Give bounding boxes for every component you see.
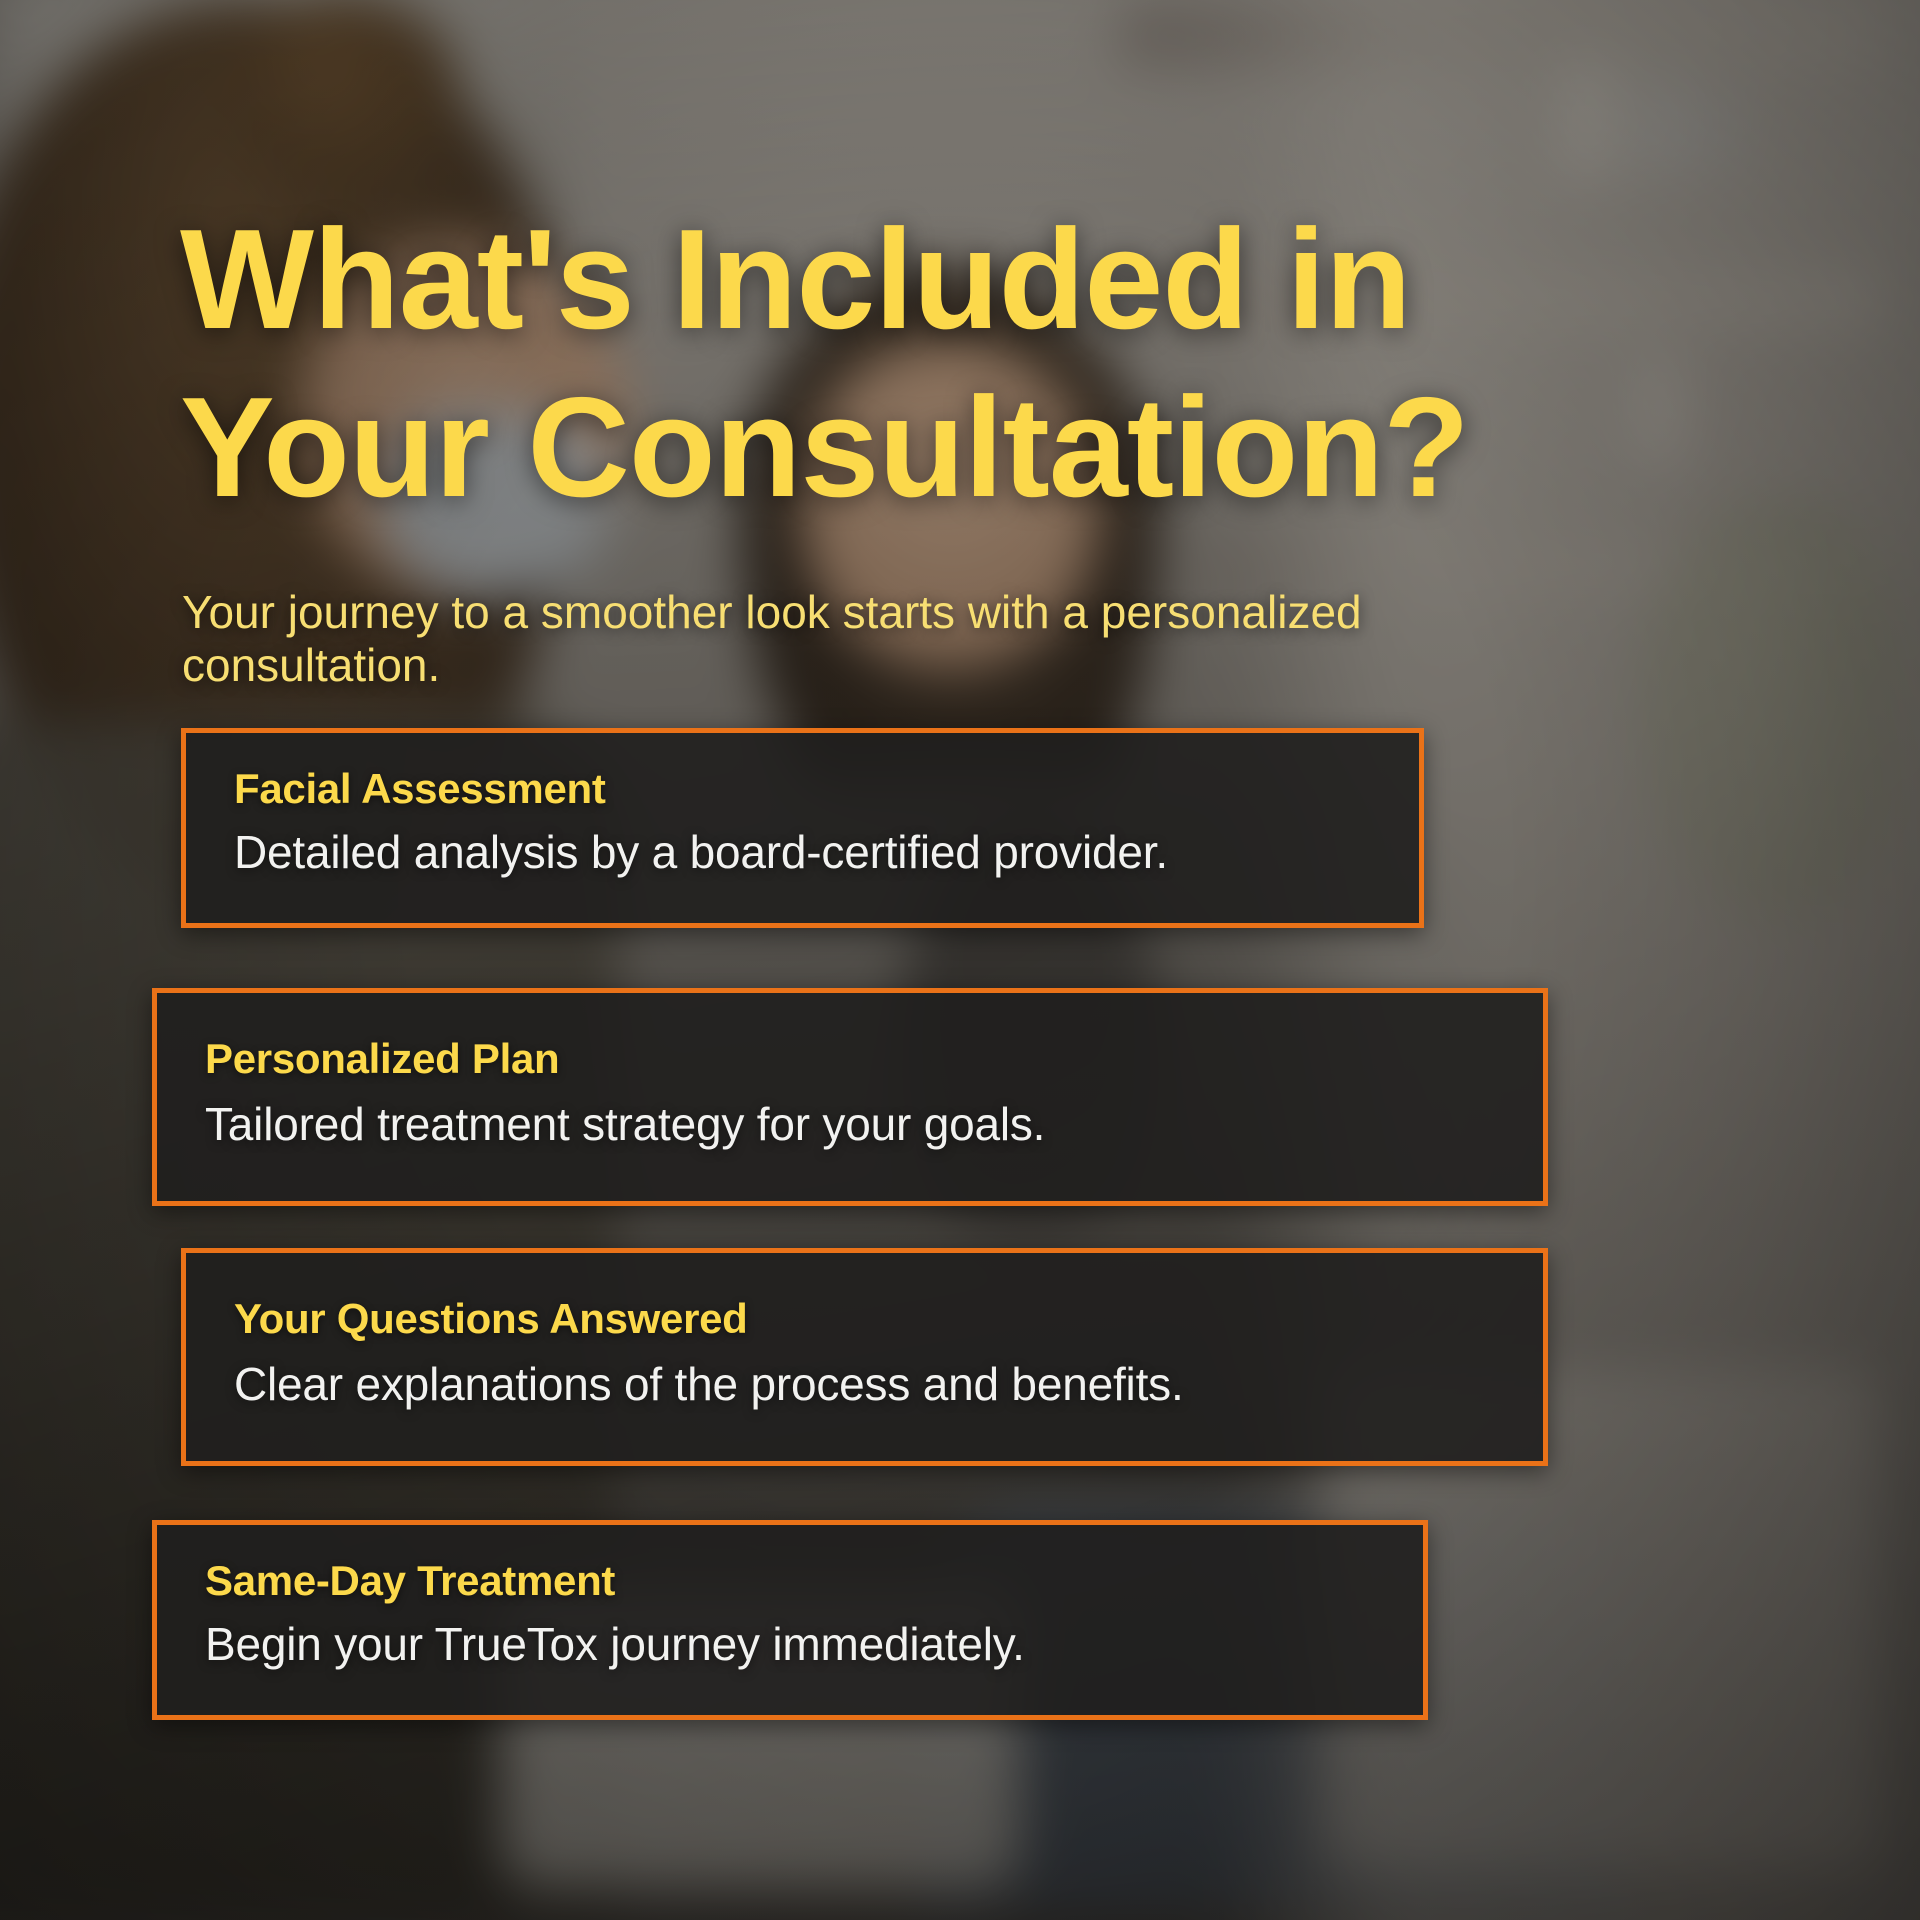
feature-card-description: Tailored treatment strategy for your goa… [205, 1097, 1045, 1151]
feature-card-title: Same-Day Treatment [205, 1557, 615, 1605]
feature-card-description: Clear explanations of the process and be… [234, 1357, 1184, 1411]
feature-card-your-questions-answered: Your Questions Answered Clear explanatio… [181, 1248, 1548, 1466]
feature-card-description: Detailed analysis by a board-certified p… [234, 825, 1168, 879]
feature-card-personalized-plan: Personalized Plan Tailored treatment str… [152, 988, 1548, 1206]
feature-card-title: Your Questions Answered [234, 1295, 748, 1343]
feature-card-same-day-treatment: Same-Day Treatment Begin your TrueTox jo… [152, 1520, 1428, 1720]
slide-content: What's Included in Your Consultation? Yo… [0, 0, 1920, 1920]
feature-card-list: Facial Assessment Detailed analysis by a… [0, 0, 1920, 1920]
feature-card-title: Facial Assessment [234, 765, 606, 813]
feature-card-title: Personalized Plan [205, 1035, 559, 1083]
feature-card-facial-assessment: Facial Assessment Detailed analysis by a… [181, 728, 1424, 928]
promotional-slide: What's Included in Your Consultation? Yo… [0, 0, 1920, 1920]
feature-card-description: Begin your TrueTox journey immediately. [205, 1617, 1025, 1671]
